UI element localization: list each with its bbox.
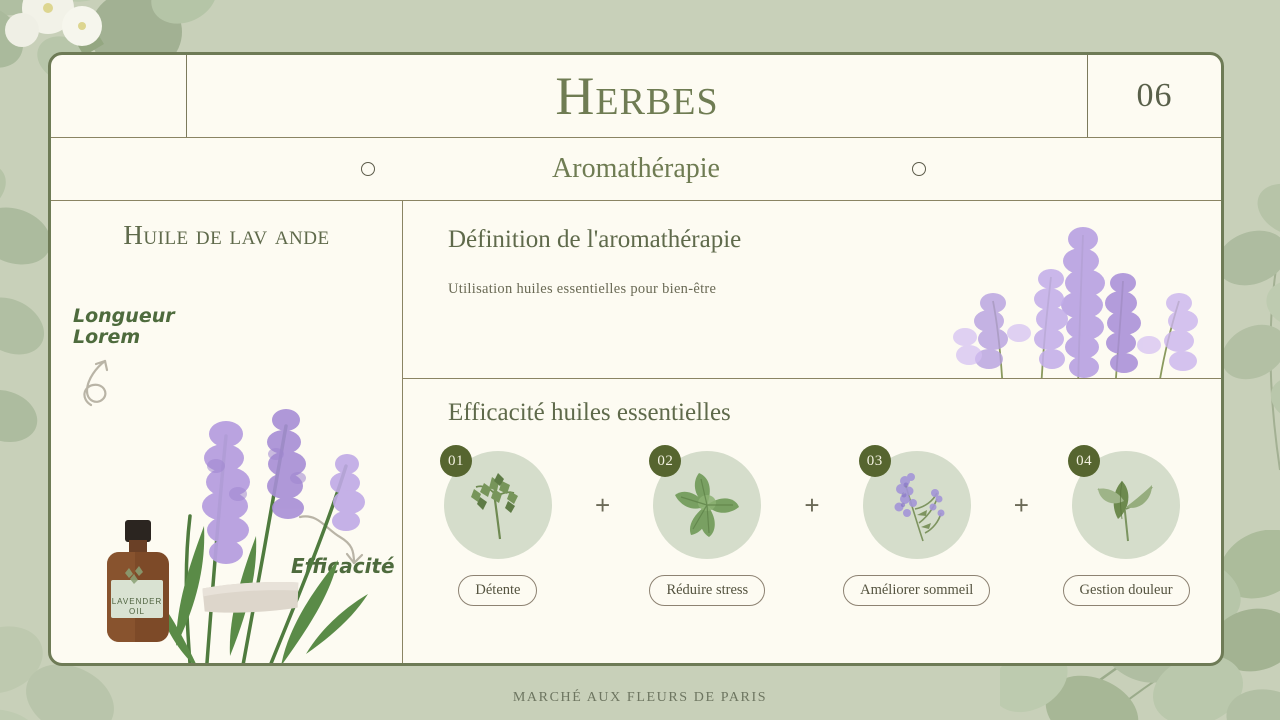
step-label-pill[interactable]: Gestion douleur	[1063, 575, 1190, 606]
parsley-sprig-icon	[456, 463, 540, 547]
header-row: Herbes 06	[51, 55, 1221, 138]
efficacy-step[interactable]: 04 Gestion douleur	[1041, 451, 1211, 606]
lavender-bouquet-illustration	[943, 217, 1213, 379]
curly-arrow-up-icon	[79, 353, 139, 408]
step-label-pill[interactable]: Réduire stress	[649, 575, 765, 606]
right-column: Définition de l'aromathérapie Utilisatio…	[403, 201, 1221, 666]
page-title: Herbes	[187, 55, 1088, 137]
circle-ring-right-icon	[912, 162, 926, 176]
step-icon-wrap: 02	[653, 451, 761, 559]
plus-separator-3: +	[1002, 451, 1042, 559]
subtitle-text: Aromathérapie	[552, 153, 720, 185]
definition-subtitle: Utilisation huiles essentielles pour bie…	[448, 281, 716, 298]
tape-strip-decoration	[200, 577, 302, 616]
lavender-oil-bottle-icon: LAVENDER OIL	[99, 518, 181, 648]
lavender-oil-panel: Huile de lav ande Longueur Lorem Efficac…	[51, 201, 403, 666]
step-label-pill[interactable]: Améliorer sommeil	[843, 575, 990, 606]
efficacy-step[interactable]: 02 Réduire stress	[622, 451, 792, 606]
circle-ring-left-icon	[361, 162, 375, 176]
page-number: 06	[1088, 55, 1221, 137]
header-left-cell	[51, 55, 187, 137]
step-badge: 04	[1068, 445, 1100, 477]
lavender-oil-title: Huile de lav ande	[51, 219, 402, 252]
definition-panel: Définition de l'aromathérapie Utilisatio…	[403, 201, 1221, 379]
step-icon-wrap: 04	[1072, 451, 1180, 559]
page-number-text: 06	[1137, 77, 1173, 115]
efficacy-step[interactable]: 03 Améliorer sommeil	[832, 451, 1002, 606]
step-icon-wrap: 01	[444, 451, 552, 559]
efficacy-steps: 01 Détente +	[413, 451, 1211, 606]
efficacy-title: Efficacité huiles essentielles	[448, 399, 731, 427]
step-badge: 03	[859, 445, 891, 477]
step-label-pill[interactable]: Détente	[458, 575, 537, 606]
plus-separator-1: +	[583, 451, 623, 559]
step-icon-wrap: 03	[863, 451, 971, 559]
plus-separator-2: +	[792, 451, 832, 559]
step-badge: 01	[440, 445, 472, 477]
lavender-sprig-icon	[875, 463, 959, 547]
efficacy-panel: Efficacité huiles essentielles	[403, 379, 1221, 666]
footer-text: MARCHÉ AUX FLEURS DE PARIS	[0, 690, 1280, 706]
lavender-plant-illustration	[146, 316, 396, 666]
efficacy-step[interactable]: 01 Détente	[413, 451, 583, 606]
body-row: Huile de lav ande Longueur Lorem Efficac…	[51, 201, 1221, 666]
subtitle-row: Aromathérapie	[51, 138, 1221, 201]
eucalyptus-leaves-icon	[1084, 463, 1168, 547]
definition-title: Définition de l'aromathérapie	[448, 226, 741, 254]
page-title-text: Herbes	[555, 65, 718, 127]
mint-leaves-icon	[665, 463, 749, 547]
slide-card: Herbes 06 Aromathérapie Huile de lav and…	[48, 52, 1224, 666]
svg-text:LAVENDER: LAVENDER	[112, 597, 163, 606]
svg-text:OIL: OIL	[129, 607, 145, 616]
